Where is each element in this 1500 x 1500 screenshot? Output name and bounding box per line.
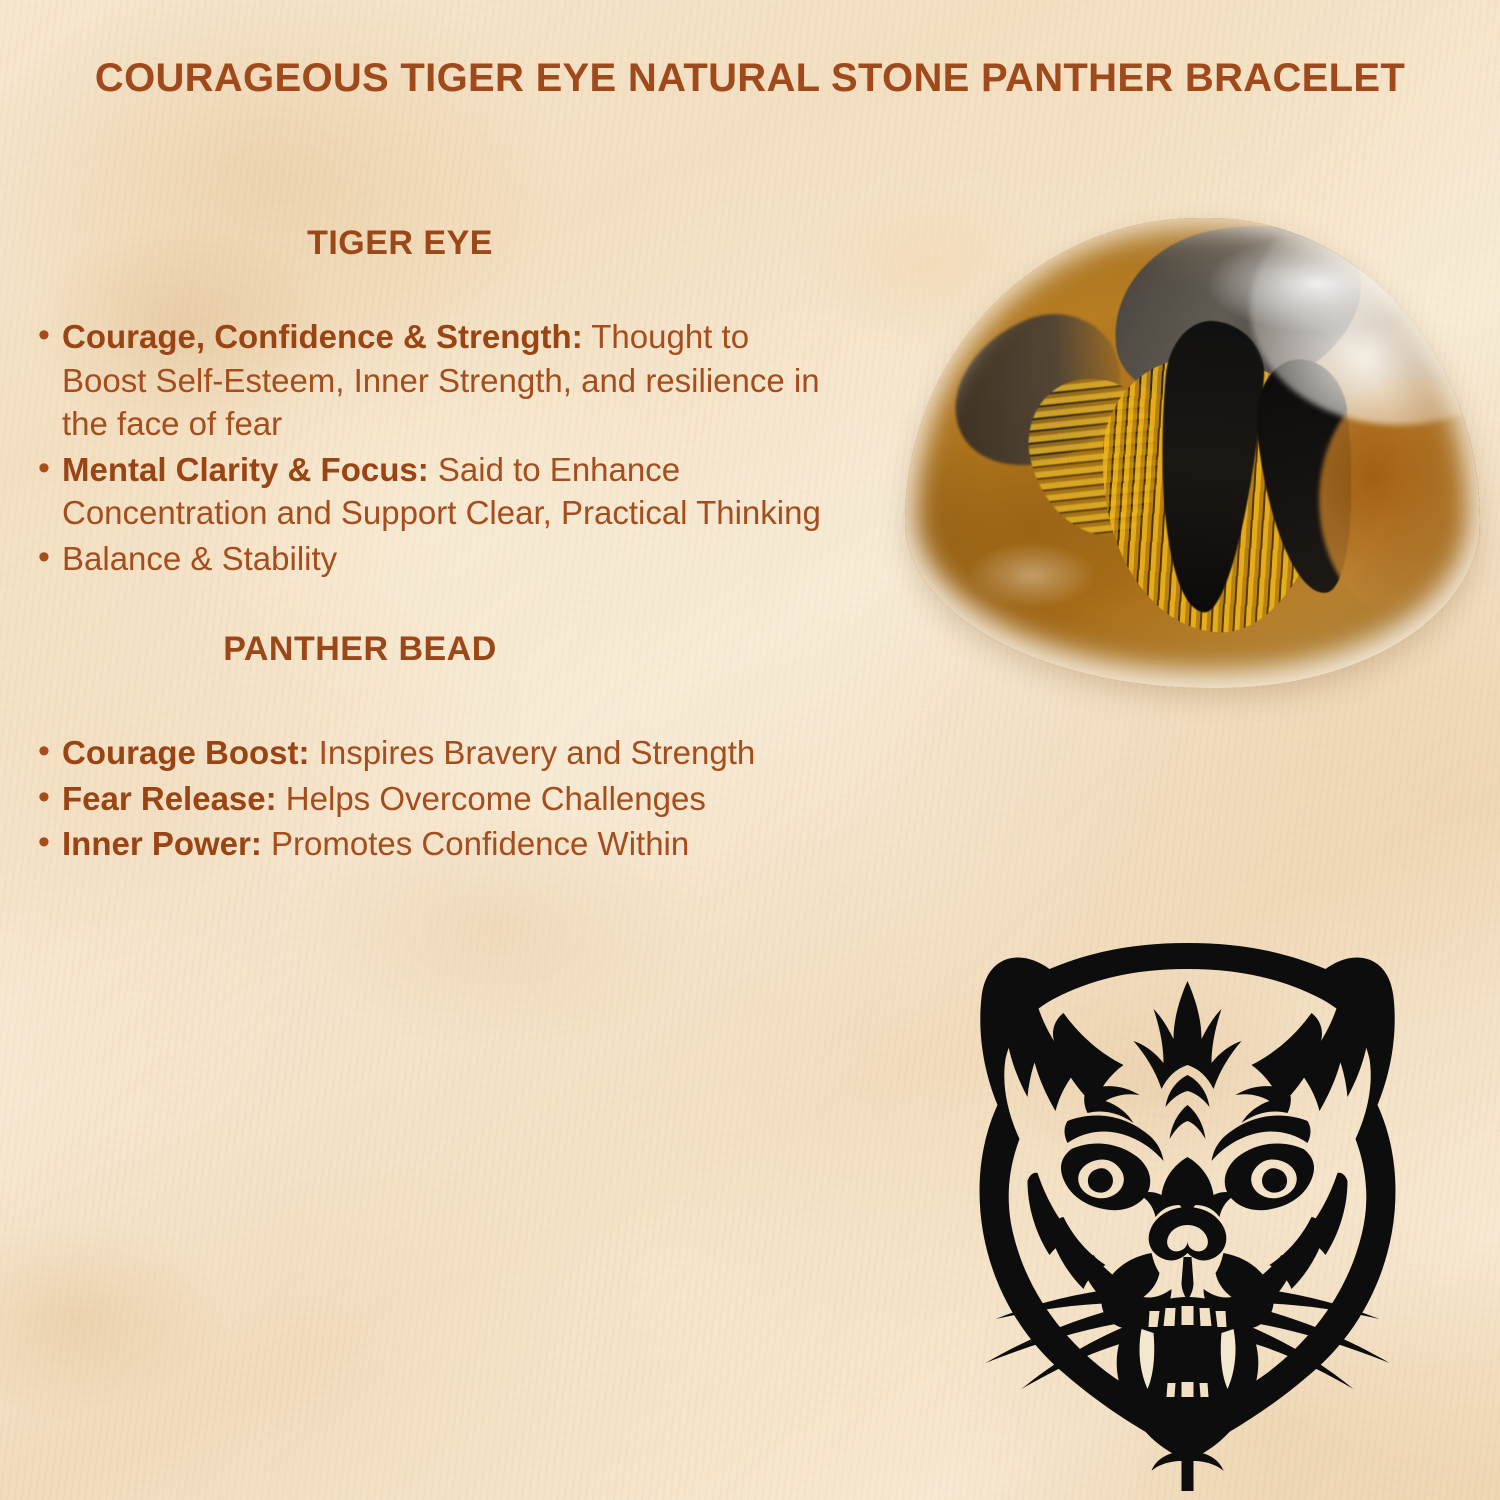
- bullet-label: Courage, Confidence & Strength:: [62, 318, 583, 355]
- bullet-text: Helps Overcome Challenges: [277, 780, 706, 817]
- list-item: Courage, Confidence & Strength: Thought …: [0, 315, 830, 446]
- list-item: Balance & Stability: [0, 537, 830, 581]
- bullet-label: Courage Boost:: [62, 734, 310, 771]
- panther-head-illustration: [915, 935, 1460, 1495]
- bullet-label: Fear Release:: [62, 780, 277, 817]
- bullet-text: Balance & Stability: [62, 540, 337, 577]
- bullet-text: Promotes Confidence Within: [262, 825, 689, 862]
- list-item: Inner Power: Promotes Confidence Within: [0, 822, 830, 866]
- list-item: Courage Boost: Inspires Bravery and Stre…: [0, 731, 830, 775]
- bullet-label: Mental Clarity & Focus:: [62, 451, 429, 488]
- tiger-eye-stone-body: [905, 218, 1480, 688]
- bullet-text: Inspires Bravery and Strength: [310, 734, 756, 771]
- page-title: COURAGEOUS TIGER EYE NATURAL STONE PANTH…: [0, 56, 1500, 101]
- section-heading-tiger-eye: TIGER EYE: [0, 224, 830, 263]
- tiger-eye-stone-image: [905, 218, 1480, 688]
- tiger-eye-benefit-list: Courage, Confidence & Strength: Thought …: [0, 315, 830, 580]
- poster-canvas: COURAGEOUS TIGER EYE NATURAL STONE PANTH…: [0, 0, 1500, 1500]
- list-item: Fear Release: Helps Overcome Challenges: [0, 777, 830, 821]
- list-item: Mental Clarity & Focus: Said to Enhance …: [0, 448, 830, 535]
- bullet-label: Inner Power:: [62, 825, 262, 862]
- panther-bead-benefit-list: Courage Boost: Inspires Bravery and Stre…: [0, 731, 830, 866]
- content-column: TIGER EYE Courage, Confidence & Strength…: [0, 120, 830, 868]
- section-heading-panther-bead: PANTHER BEAD: [0, 630, 830, 669]
- panther-head-icon: [980, 943, 1396, 1491]
